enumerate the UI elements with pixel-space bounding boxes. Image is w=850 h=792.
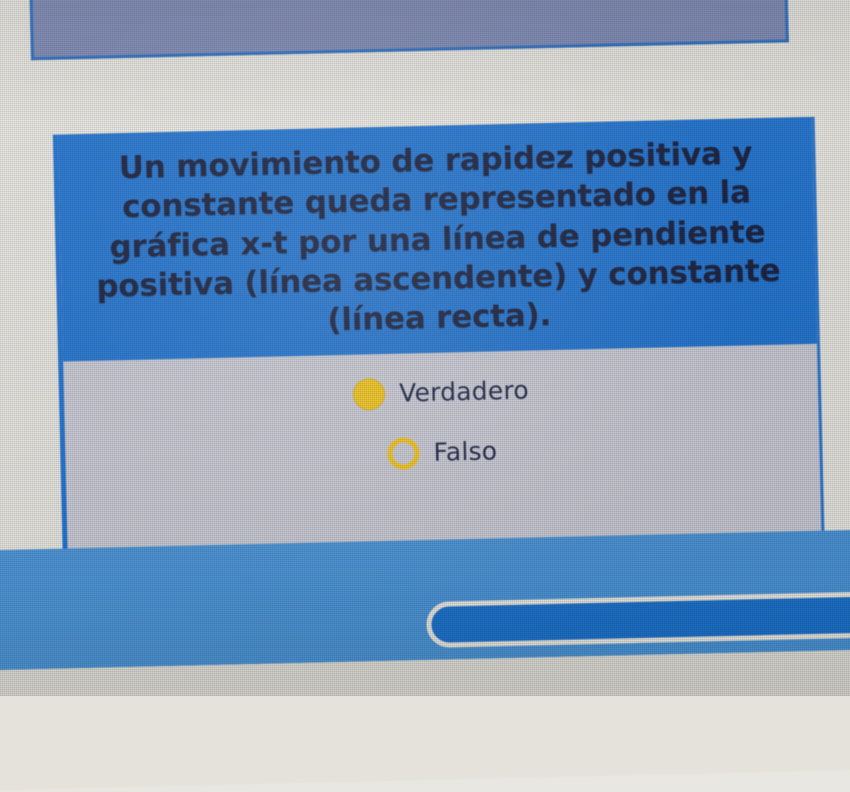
radio-filled-icon[interactable] — [353, 378, 386, 411]
action-bar — [0, 528, 850, 673]
previous-question-panel[interactable] — [28, 0, 788, 60]
answer-option-verdadero[interactable]: Verdadero — [353, 374, 529, 410]
answer-option-falso[interactable]: Falso — [387, 435, 497, 470]
page-background-footer — [0, 648, 850, 792]
screen-content-plane: Un movimiento de rapidez positiva y cons… — [0, 0, 850, 696]
answer-option-label: Verdadero — [399, 376, 529, 408]
answer-option-label: Falso — [433, 437, 497, 467]
answer-options-list: Verdadero Falso — [63, 344, 820, 478]
question-header: Un movimiento de rapidez positiva y cons… — [58, 117, 817, 361]
question-text: Un movimiento de rapidez positiva y cons… — [72, 133, 802, 347]
radio-outline-icon[interactable] — [387, 437, 420, 470]
tilted-screen-plane: Un movimiento de rapidez positiva y cons… — [0, 0, 850, 711]
quiz-question-card: Un movimiento de rapidez positiva y cons… — [53, 117, 825, 555]
submit-button[interactable] — [426, 590, 850, 648]
